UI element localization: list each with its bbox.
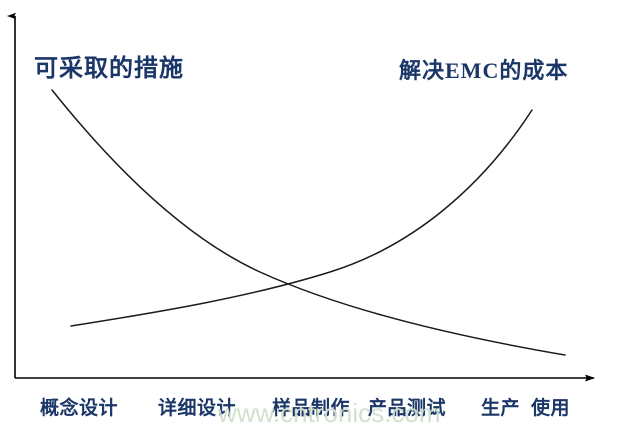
x-tick-label-concept-design: 概念设计 — [40, 393, 118, 420]
series-label-cost: 解决EMC的成本 — [399, 53, 568, 85]
curve-measures-decreasing — [52, 90, 565, 355]
x-tick-label-product-test: 产品测试 — [368, 393, 446, 420]
x-tick-label-production: 生产 — [481, 393, 520, 420]
chart-canvas: 可采取的措施 解决EMC的成本 概念设计 详细设计 样品制作 产品测试 生产 使… — [0, 0, 619, 425]
x-tick-label-detailed-design: 详细设计 — [158, 393, 236, 420]
x-tick-label-usage: 使用 — [531, 393, 570, 420]
series-label-measures: 可采取的措施 — [34, 48, 184, 83]
curve-cost-increasing — [71, 110, 532, 326]
x-tick-label-prototype: 样品制作 — [272, 393, 350, 420]
